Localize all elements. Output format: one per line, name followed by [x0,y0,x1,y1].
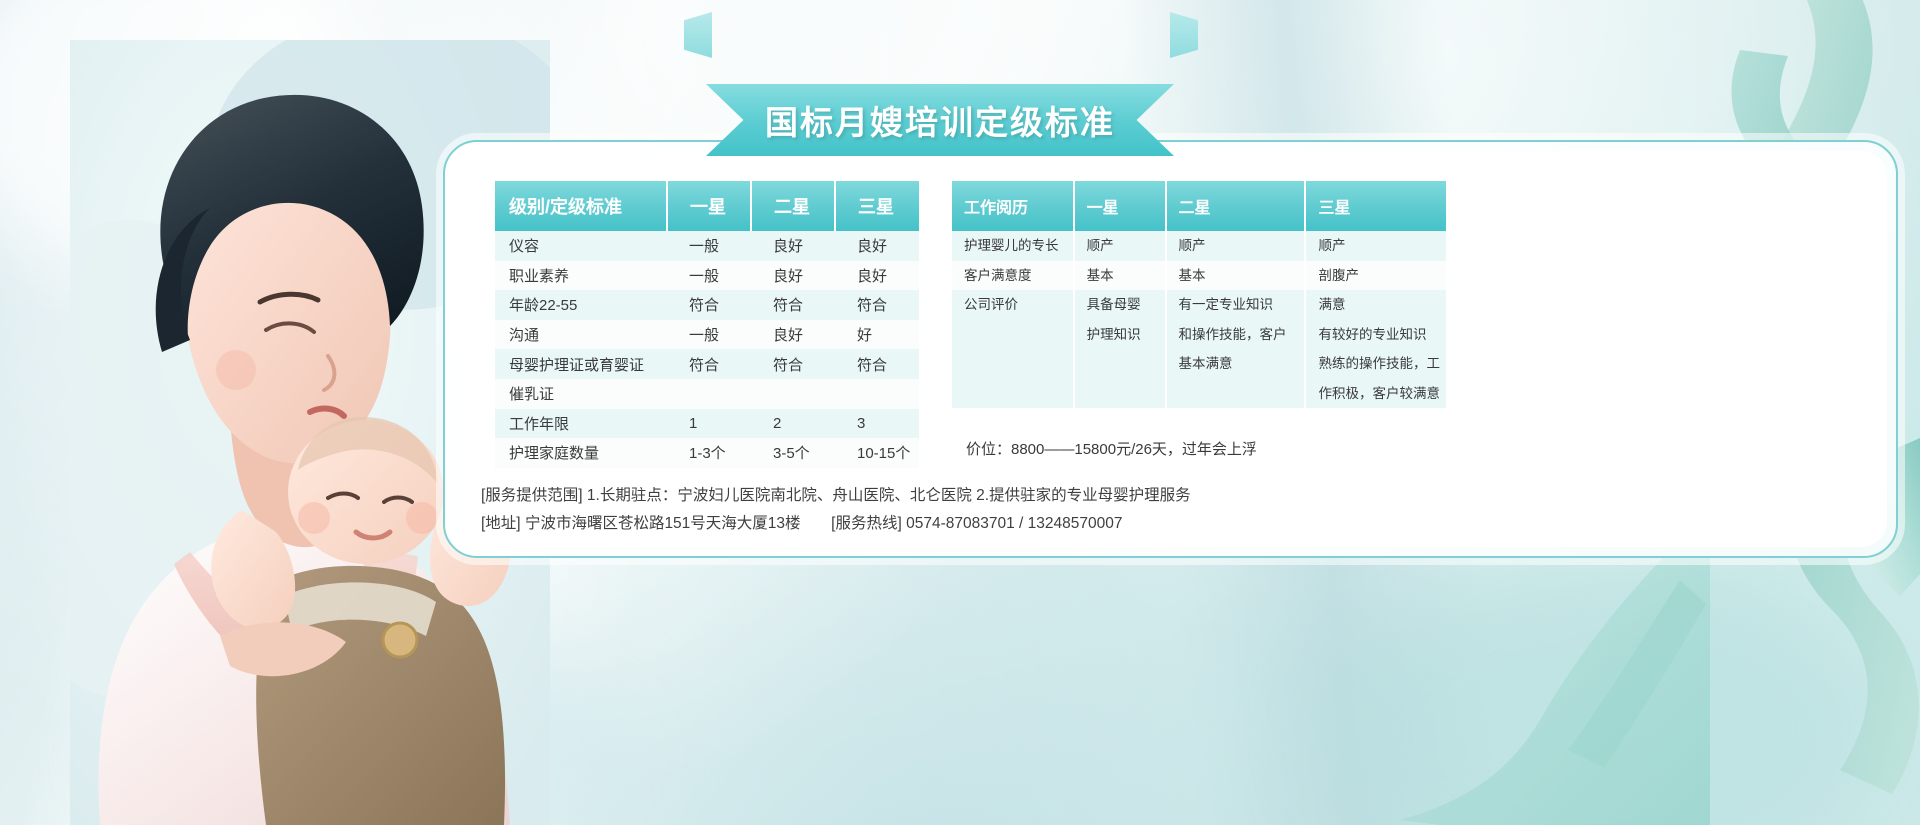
cell-one-star: 符合 [667,349,751,379]
cell-three-star: 满意 有较好的专业知识 熟练的操作技能，工 作积极，客户较满意 [1305,290,1446,408]
cell-line: 护理知识 [1087,320,1159,350]
cell-line: 熟练的操作技能，工 [1318,349,1440,379]
table-row: 沟通 一般 良好 好 [495,320,919,350]
cell-two-star: 良好 [751,231,835,261]
cell-two-star: 符合 [751,349,835,379]
table-row: 年龄22-55 符合 符合 符合 [495,290,919,320]
cell-one-star: 基本 [1074,261,1166,291]
cell-two-star: 3-5个 [751,438,835,468]
cell-line: 基本满意 [1179,349,1299,379]
row-label: 催乳证 [495,379,667,409]
row-label: 工作年限 [495,409,667,439]
cell-one-star: 一般 [667,231,751,261]
cell-line-spacer [1087,349,1159,379]
cell-one-star: 符合 [667,290,751,320]
cell-three-star: 3 [835,409,919,439]
table-row: 工作年限 1 2 3 [495,409,919,439]
header-criteria: 级别/定级标准 [495,181,667,231]
grading-standard-table: 级别/定级标准 一星 二星 三星 仪容 一般 良好 良好 职业素养 一般 良好 … [495,181,919,468]
cell-three-star: 顺产 [1305,231,1446,261]
address-label: [地址] [481,515,521,532]
table-header-row: 工作阅历 一星 二星 三星 [952,181,1446,231]
title-banner: 国标月嫂培训定级标准 [706,84,1174,156]
row-label: 母婴护理证或育婴证 [495,349,667,379]
cell-three-star: 符合 [835,290,919,320]
header-one-star: 一星 [1074,181,1166,231]
cell-two-star: 有一定专业知识 和操作技能，客户 基本满意 [1166,290,1306,408]
row-label: 客户满意度 [952,261,1074,291]
cell-one-star: 一般 [667,261,751,291]
table-row: 客户满意度 基本 基本 剖腹产 [952,261,1446,291]
row-label: 职业素养 [495,261,667,291]
address-value: 宁波市海曙区苍松路151号天海大厦13楼 [525,515,801,532]
table-row: 护理家庭数量 1-3个 3-5个 10-15个 [495,438,919,468]
cell-three-star: 良好 [835,261,919,291]
price-note: 价位：8800——15800元/26天，过年会上浮 [952,425,1446,472]
cell-three-star: 10-15个 [835,438,919,468]
cell-two-star: 基本 [1166,261,1306,291]
cell-line: 有一定专业知识 [1179,290,1299,320]
row-label: 护理家庭数量 [495,438,667,468]
cell-three-star [835,379,919,409]
cell-line: 满意 [1318,290,1440,320]
hotline-value: 0574-87083701 / 13248570007 [906,515,1122,532]
table-row: 职业素养 一般 良好 良好 [495,261,919,291]
row-label: 护理婴儿的专长 [952,231,1074,261]
header-experience: 工作阅历 [952,181,1074,231]
cell-three-star: 符合 [835,349,919,379]
service-scope-line: [服务提供范围] 1.长期驻点：宁波妇儿医院南北院、舟山医院、北仑医院 2.提供… [481,483,1191,505]
row-label: 沟通 [495,320,667,350]
cell-one-star: 顺产 [1074,231,1166,261]
cell-one-star: 1 [667,409,751,439]
address-hotline-line: [地址] 宁波市海曙区苍松路151号天海大厦13楼 [服务热线] 0574-87… [481,511,1122,533]
header-two-star: 二星 [751,181,835,231]
header-two-star: 二星 [1166,181,1306,231]
work-experience-table: 工作阅历 一星 二星 三星 护理婴儿的专长 顺产 顺产 顺产 客户满意度 基本 … [952,181,1446,408]
hotline-label: [服务热线] [831,515,902,532]
ribbon-decoration-bottom [1380,520,1710,825]
row-label: 年龄22-55 [495,290,667,320]
cell-line: 作积极，客户较满意 [1318,379,1440,409]
page-title: 国标月嫂培训定级标准 [706,84,1174,156]
cell-three-star: 好 [835,320,919,350]
cell-two-star: 良好 [751,261,835,291]
cell-line-spacer [1087,379,1159,409]
cell-line: 具备母婴 [1087,290,1159,320]
cell-two-star: 符合 [751,290,835,320]
header-one-star: 一星 [667,181,751,231]
cell-line-spacer [1179,379,1299,409]
table-row: 仪容 一般 良好 良好 [495,231,919,261]
cell-line: 和操作技能，客户 [1179,320,1299,350]
cell-two-star [751,379,835,409]
header-three-star: 三星 [835,181,919,231]
table-row: 公司评价 具备母婴 护理知识 有一定专业知识 和操作技能，客户 基本满意 满意 … [952,290,1446,408]
table-row: 母婴护理证或育婴证 符合 符合 符合 [495,349,919,379]
row-label: 仪容 [495,231,667,261]
header-three-star: 三星 [1305,181,1446,231]
cell-one-star: 具备母婴 护理知识 [1074,290,1166,408]
cell-two-star: 良好 [751,320,835,350]
table-row: 催乳证 [495,379,919,409]
cell-three-star: 剖腹产 [1305,261,1446,291]
cell-three-star: 良好 [835,231,919,261]
row-label: 公司评价 [952,290,1074,408]
cell-two-star: 顺产 [1166,231,1306,261]
table-header-row: 级别/定级标准 一星 二星 三星 [495,181,919,231]
cell-one-star: 一般 [667,320,751,350]
cell-line: 有较好的专业知识 [1318,320,1440,350]
table-row: 护理婴儿的专长 顺产 顺产 顺产 [952,231,1446,261]
cell-one-star: 1-3个 [667,438,751,468]
cell-one-star [667,379,751,409]
cell-two-star: 2 [751,409,835,439]
